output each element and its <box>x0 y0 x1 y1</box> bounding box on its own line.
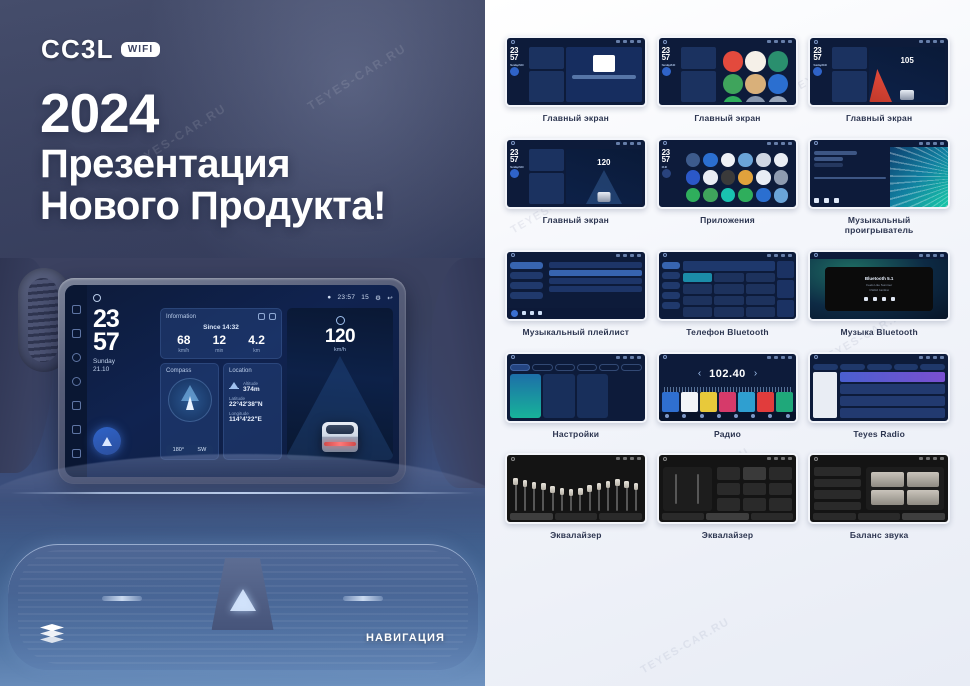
mini-status-bar <box>810 140 948 147</box>
caption: Телефон Bluetooth <box>686 327 769 338</box>
grid-cell[interactable]: Баланс звука <box>808 453 950 541</box>
mini-clock: 2357Sunday 21.10 <box>510 47 527 102</box>
mini-body: 2357Sunday 21.10 <box>507 45 645 105</box>
mini-status-bar <box>659 38 797 45</box>
mini-home-layout: 2357Sunday 21.10 105 <box>810 45 948 105</box>
mini-info-column <box>529 47 564 102</box>
mini-album-art <box>511 310 518 317</box>
mini-radio-toolbar[interactable] <box>659 412 797 421</box>
mini-app-icons[interactable] <box>718 47 794 102</box>
screenshot-equalizer-presets[interactable] <box>657 453 799 524</box>
speed-gauge-icon <box>336 316 345 325</box>
mini-status-icons <box>919 457 944 460</box>
mini-hud-panel: 105 <box>869 47 945 102</box>
mini-teyes-content <box>813 372 945 418</box>
mini-home-layout: 2357Sunday 21.10 <box>507 45 645 105</box>
mini-clock: 235721.10 <box>662 149 679 204</box>
mini-keypad[interactable] <box>683 273 775 317</box>
clock-day: Sunday <box>93 358 155 366</box>
mini-home-icon <box>814 253 818 257</box>
mini-home-icon <box>663 355 667 359</box>
dashboard-highlight-line <box>10 492 475 494</box>
hud-speed-value: 120 <box>287 327 393 346</box>
dashboard-trim-left <box>102 596 142 601</box>
expand-icon[interactable] <box>269 313 276 320</box>
mini-body: Bluetooth 5.1 Feels Like Summer Childish… <box>810 259 948 319</box>
mini-hud-panel: 120 <box>566 149 642 204</box>
next-icon <box>834 198 839 203</box>
caption: Главный экран <box>543 113 609 124</box>
grid-cell[interactable]: 2357Sunday 21.10 Главны <box>657 36 799 124</box>
status-home-icon[interactable] <box>93 294 101 302</box>
mini-body <box>507 259 645 319</box>
mini-teyes-tabs[interactable] <box>813 364 945 370</box>
mini-clock: 2357Sunday 21.10 <box>662 47 679 102</box>
mini-back-fab[interactable] <box>662 169 671 178</box>
carplay-card <box>543 374 574 418</box>
caption: Teyes Radio <box>853 429 905 440</box>
stat-time: 12 min <box>213 334 226 354</box>
mini-status-bar <box>659 252 797 259</box>
trip-stats: 68 km/h 12 min 4.2 <box>166 334 276 354</box>
mini-home-icon <box>814 40 818 44</box>
mini-number-field[interactable] <box>683 261 775 271</box>
mini-body <box>507 361 645 421</box>
mini-home-layout: 2357Sunday 21.10 120 <box>507 147 645 207</box>
compass-heading: 180° <box>173 447 184 453</box>
mini-status-icons <box>616 254 641 257</box>
mini-status-icons <box>616 40 641 43</box>
caption: Музыкальный проигрыватель <box>817 215 942 236</box>
bt-playback-controls[interactable] <box>864 297 895 301</box>
mini-status-icons <box>919 40 944 43</box>
grid-cell[interactable]: Настройки <box>505 352 647 440</box>
mini-status-icons <box>919 142 944 145</box>
altitude-value: 374m <box>243 386 260 393</box>
mini-status-bar <box>507 455 645 462</box>
screenshot-home-hud2[interactable]: 2357Sunday 21.10 120 <box>505 138 647 209</box>
mini-eq-tabs[interactable] <box>510 513 642 520</box>
back-arrow-icon[interactable]: ↩ <box>387 294 393 302</box>
home-widgets: 23 57 Sunday 21.10 Information <box>93 308 393 460</box>
mini-bt-background: Bluetooth 5.1 Feels Like Summer Childish… <box>810 259 948 319</box>
mini-body <box>810 147 948 207</box>
altitude-row: Altitude 374m <box>229 378 276 393</box>
mini-status-bar <box>810 455 948 462</box>
compass-card[interactable]: Compass 180° SW <box>160 363 219 460</box>
screenshot-bluetooth-phone[interactable] <box>657 250 799 321</box>
layers-icon <box>40 624 64 648</box>
stat-speed-unit: km/h <box>177 348 190 354</box>
screenshot-grid: 2357Sunday 21.10 Главный экран 2357Sunda… <box>505 36 950 541</box>
watermark: TEYES-CAR.RU <box>639 616 732 677</box>
mini-info-card <box>529 47 564 69</box>
mini-home-icon <box>663 457 667 461</box>
grid-cell[interactable]: Эквалайзер <box>657 453 799 541</box>
mini-app-shelf <box>718 47 794 102</box>
status-indicators: ● 23:57 15 ⚙ ↩ <box>327 294 393 302</box>
mini-clock: 2357Sunday 21.10 <box>813 47 830 102</box>
grid-cell[interactable]: 235721.10 Приложения <box>657 138 799 236</box>
head-unit-screen[interactable]: ● 23:57 15 ⚙ ↩ 23 57 Sunday <box>65 285 399 477</box>
mini-home-icon <box>663 40 667 44</box>
caption: Приложения <box>700 215 755 226</box>
headline-line2: Нового Продукта! <box>40 186 460 228</box>
grid-cell[interactable]: Музыкальный плейлист <box>505 250 647 338</box>
mini-eq2-faders[interactable] <box>663 467 712 511</box>
mini-status-bar <box>810 38 948 45</box>
tune-down-icon[interactable]: ‹ <box>698 368 701 379</box>
mini-status-bar <box>507 38 645 45</box>
bt-track-artist: Childish Gambino <box>869 289 889 292</box>
compass-dial <box>168 378 212 422</box>
mini-settings-layout <box>507 361 645 421</box>
since-label: Since 14:32 <box>166 324 276 331</box>
caption: Баланс звука <box>850 530 909 541</box>
caption: Настройки <box>553 429 600 440</box>
status-bar: ● 23:57 15 ⚙ ↩ <box>93 291 393 304</box>
page-title: 2024 Презентация Нового Продукта! <box>40 85 460 227</box>
mini-body <box>810 462 948 522</box>
mini-teyes-layout <box>810 361 948 421</box>
grid-cell[interactable]: ‹ 102.40 › Радио <box>657 352 799 440</box>
dashboard-trim-right <box>343 596 383 601</box>
mini-phone-nav[interactable] <box>661 261 681 317</box>
mini-status-bar <box>507 140 645 147</box>
mini-dial-area <box>683 261 775 317</box>
clock-widget: 23 57 Sunday 21.10 <box>93 308 155 460</box>
mini-status-bar <box>810 252 948 259</box>
mini-body <box>507 462 645 522</box>
mini-status-bar <box>659 455 797 462</box>
brand-logo: CC3L WIFI <box>41 34 160 65</box>
mini-body: 2357Sunday 21.10 <box>659 45 797 105</box>
hud-speed-readout: 120 km/h <box>287 316 393 353</box>
mini-status-icons <box>616 356 641 359</box>
bt-track-title: Feels Like Summer <box>866 283 892 287</box>
compass-direction: SW <box>197 447 206 453</box>
mini-eq-tabs[interactable] <box>662 513 794 520</box>
mini-progress-bar[interactable] <box>814 177 886 179</box>
screenshot-home-hud[interactable]: 2357Sunday 21.10 105 <box>808 36 950 107</box>
settings-gear-icon[interactable]: ⚙ <box>375 294 381 302</box>
mini-favorite-icon[interactable] <box>814 163 843 167</box>
grid-cell[interactable]: Teyes Radio <box>808 352 950 440</box>
car-avatar <box>322 422 358 452</box>
mini-clock: 2357Sunday 21.10 <box>510 149 527 204</box>
stat-speed-value: 68 <box>177 334 190 346</box>
wifi-card <box>510 374 541 418</box>
mini-status-icons <box>767 254 792 257</box>
screen-side-rail[interactable] <box>65 285 87 477</box>
secondary-widgets: Compass 180° SW <box>160 363 282 460</box>
caption: Эквалайзер <box>550 530 602 541</box>
hud-speed-unit: km/h <box>287 347 393 353</box>
compass-header: Compass <box>166 368 213 374</box>
presentation-slide: TEYES-CAR.RU TEYES-CAR.RU TEYES-CAR.RU T… <box>0 0 970 686</box>
mini-home-icon <box>663 253 667 257</box>
mini-visualizer <box>890 147 948 207</box>
mini-body: 235721.10 <box>659 147 797 207</box>
mini-body: 2357Sunday 21.10 120 <box>507 147 645 207</box>
screenshot-app-drawer[interactable]: 235721.10 <box>657 138 799 209</box>
grid-cell[interactable]: 2357Sunday 21.10 105 Главный экран <box>808 36 950 124</box>
radio-frequency: 102.40 <box>709 368 746 380</box>
mini-home-icon <box>814 141 818 145</box>
grid-cell[interactable]: Bluetooth 5.1 Feels Like Summer Childish… <box>808 250 950 338</box>
hazard-triangle-icon <box>230 589 256 611</box>
mini-status-icons <box>767 142 792 145</box>
altitude-value-group: Altitude 374m <box>243 381 260 393</box>
next-icon <box>891 297 895 301</box>
mini-nav-fab[interactable] <box>510 169 519 178</box>
mini-info-column <box>529 149 564 204</box>
information-card-header: Information <box>166 313 276 320</box>
stop-icon <box>882 297 886 301</box>
mini-status-icons <box>616 142 641 145</box>
longitude-value: 114°4'22"E <box>229 416 276 423</box>
mini-body <box>659 259 797 319</box>
mini-body: 2357Sunday 21.10 105 <box>810 45 948 105</box>
screenshot-music-player[interactable] <box>808 138 950 209</box>
prev-icon <box>814 198 819 203</box>
mini-home-icon <box>663 141 667 145</box>
screenshot-home-media[interactable]: 2357Sunday 21.10 <box>505 36 647 107</box>
caption: Радио <box>714 429 741 440</box>
volume-down-icon[interactable] <box>72 425 81 434</box>
mini-status-icons <box>767 356 792 359</box>
mini-eq2-presets[interactable] <box>717 467 792 511</box>
grid-cell[interactable]: 2357Sunday 21.10 Главный экран <box>505 36 647 124</box>
mini-home-icon <box>511 355 515 359</box>
screenshot-playlist[interactable] <box>505 250 647 321</box>
bt-version-label: Bluetooth 5.1 <box>865 276 894 281</box>
navigation-fab[interactable] <box>93 427 121 455</box>
mini-status-bar <box>507 354 645 361</box>
stat-time-value: 12 <box>213 334 226 346</box>
grid-cell[interactable]: Телефон Bluetooth <box>657 250 799 338</box>
location-card[interactable]: Location Altitude 374m <box>223 363 282 460</box>
mini-radio-tuner: ‹ 102.40 › <box>659 361 797 387</box>
mini-home-icon <box>814 355 818 359</box>
volume-up-icon[interactable] <box>72 449 81 458</box>
tune-up-icon[interactable]: › <box>754 368 757 379</box>
compass-title: Compass <box>166 368 191 374</box>
mini-hud-speed: 120 <box>566 149 642 167</box>
mini-preset-tiles[interactable] <box>659 392 797 412</box>
mini-bt-card: Bluetooth 5.1 Feels Like Summer Childish… <box>825 267 932 311</box>
mini-home-layout: 2357Sunday 21.10 <box>659 45 797 105</box>
mini-body <box>810 361 948 421</box>
caption: Музыкальный плейлист <box>523 327 630 338</box>
information-card-title: Information <box>166 314 196 320</box>
mini-nav-fab[interactable] <box>662 67 671 76</box>
mini-now-playing-bar[interactable] <box>507 308 645 319</box>
caption: Главный экран <box>846 113 912 124</box>
latitude-row: Latitude 22°42'38"N <box>229 396 276 408</box>
screenshot-sound-balance[interactable] <box>808 453 950 524</box>
caption: Главный экран <box>543 215 609 226</box>
mini-info-column <box>832 47 867 102</box>
mini-body: ‹ 102.40 › <box>659 361 797 421</box>
mountain-icon <box>229 382 239 389</box>
logo-text: CC3L <box>41 34 114 65</box>
clock-date: 21.10 <box>93 366 155 374</box>
prev-track-icon[interactable] <box>72 305 81 314</box>
mini-nav-fab[interactable] <box>813 67 822 76</box>
screenshot-home-apps[interactable]: 2357Sunday 21.10 <box>657 36 799 107</box>
caption: Эквалайзер <box>702 530 754 541</box>
mini-drawer-layout: 235721.10 <box>659 147 797 207</box>
card-actions[interactable] <box>258 313 276 320</box>
mini-status-icons <box>767 40 792 43</box>
mini-nav-fab[interactable] <box>510 67 519 76</box>
stat-distance-unit: km <box>248 348 265 354</box>
mini-call-actions[interactable] <box>777 261 794 317</box>
more-card <box>577 374 608 418</box>
stat-distance-value: 4.2 <box>248 334 265 346</box>
stat-distance: 4.2 km <box>248 334 265 354</box>
mini-balance-presets[interactable] <box>814 467 861 510</box>
info-widgets: Information Since 14:32 68 km/h <box>160 308 282 460</box>
mini-status-icons <box>767 457 792 460</box>
mini-status-icons <box>616 457 641 460</box>
mini-status-bar <box>507 252 645 259</box>
mini-home-icon <box>511 253 515 257</box>
grid-cell[interactable]: Эквалайзер <box>505 453 647 541</box>
mini-media-panel <box>566 47 642 102</box>
layers-icon-top <box>40 624 64 631</box>
headline-line1: Презентация <box>40 144 460 186</box>
layers-icon-mid <box>40 630 64 637</box>
mini-settings-cards[interactable] <box>510 374 642 418</box>
mini-status-icons <box>919 254 944 257</box>
headline-year: 2024 <box>40 85 460 142</box>
hero-panel: TEYES-CAR.RU TEYES-CAR.RU TEYES-CAR.RU T… <box>0 0 485 686</box>
play-pause-icon <box>873 297 877 301</box>
mini-station-art <box>813 372 837 418</box>
power-icon[interactable] <box>72 353 81 362</box>
screenshot-settings[interactable] <box>505 352 647 423</box>
back-icon[interactable] <box>72 401 81 410</box>
mini-settings-tabs[interactable] <box>510 364 642 371</box>
mini-phone-layout <box>659 259 797 319</box>
stat-speed: 68 km/h <box>177 334 190 354</box>
mini-track-title <box>814 151 857 155</box>
status-time: 23:57 <box>337 294 355 301</box>
stat-time-unit: min <box>213 348 226 354</box>
next-track-icon[interactable] <box>72 329 81 338</box>
mini-station-list[interactable] <box>840 372 945 418</box>
mini-body <box>659 462 797 522</box>
wifi-icon: ● <box>327 294 331 301</box>
screenshot-radio[interactable]: ‹ 102.40 › <box>657 352 799 423</box>
volume-level: 15 <box>361 294 369 301</box>
hud-widget[interactable]: 120 km/h <box>287 308 393 460</box>
mini-app-icons[interactable] <box>681 149 794 204</box>
mini-status-bar <box>659 140 797 147</box>
mini-status-icons <box>919 356 944 359</box>
wifi-badge: WIFI <box>121 42 161 58</box>
refresh-icon[interactable] <box>258 313 265 320</box>
mini-status-bar <box>810 354 948 361</box>
grid-cell[interactable]: Музыкальный проигрыватель <box>808 138 950 236</box>
screenshot-equalizer[interactable] <box>505 453 647 524</box>
layers-icon-bottom <box>40 636 64 643</box>
mini-compass-card <box>529 71 564 102</box>
mini-speaker-pad[interactable] <box>866 467 944 510</box>
information-card[interactable]: Information Since 14:32 68 km/h <box>160 308 282 359</box>
mini-home-icon <box>511 40 515 44</box>
home-icon[interactable] <box>72 377 81 386</box>
screen-content: ● 23:57 15 ⚙ ↩ 23 57 Sunday <box>87 285 399 477</box>
mini-info-column <box>681 47 716 102</box>
mini-hud-speed: 105 <box>869 47 945 65</box>
dashboard-shelf <box>0 454 485 540</box>
mini-eq-tabs[interactable] <box>813 513 945 520</box>
play-pause-icon <box>824 198 829 203</box>
prev-icon <box>864 297 868 301</box>
screenshot-bluetooth-music[interactable]: Bluetooth 5.1 Feels Like Summer Childish… <box>808 250 950 321</box>
caption: Музыка Bluetooth <box>840 327 917 338</box>
latitude-value: 22°42'38"N <box>229 401 276 408</box>
caption: Главный экран <box>694 113 760 124</box>
mini-player-layout <box>810 147 948 207</box>
mini-track-info <box>810 147 890 207</box>
mini-home-icon <box>511 141 515 145</box>
navigation-label: НАВИГАЦИЯ <box>366 632 445 644</box>
screenshot-grid-panel: TEYES-CAR.RU TEYES-CAR.RU TEYES-CAR.RU T… <box>485 0 970 686</box>
mini-app-grid-wrap <box>681 149 794 204</box>
mini-track-artist <box>814 157 843 161</box>
car-dashboard-illustration: ● 23:57 15 ⚙ ↩ 23 57 Sunday <box>0 258 485 686</box>
longitude-row: Longitude 114°4'22"E <box>229 411 276 423</box>
location-title: Location <box>229 368 252 374</box>
mini-status-bar <box>659 354 797 361</box>
mini-home-icon <box>511 457 515 461</box>
clock-minutes: 57 <box>93 331 155 354</box>
mini-playback-controls[interactable] <box>814 198 886 203</box>
grid-cell[interactable]: 2357Sunday 21.10 120 Главный экран <box>505 138 647 236</box>
screenshot-teyes-radio[interactable] <box>808 352 950 423</box>
location-header: Location <box>229 368 276 374</box>
mini-home-icon <box>814 457 818 461</box>
